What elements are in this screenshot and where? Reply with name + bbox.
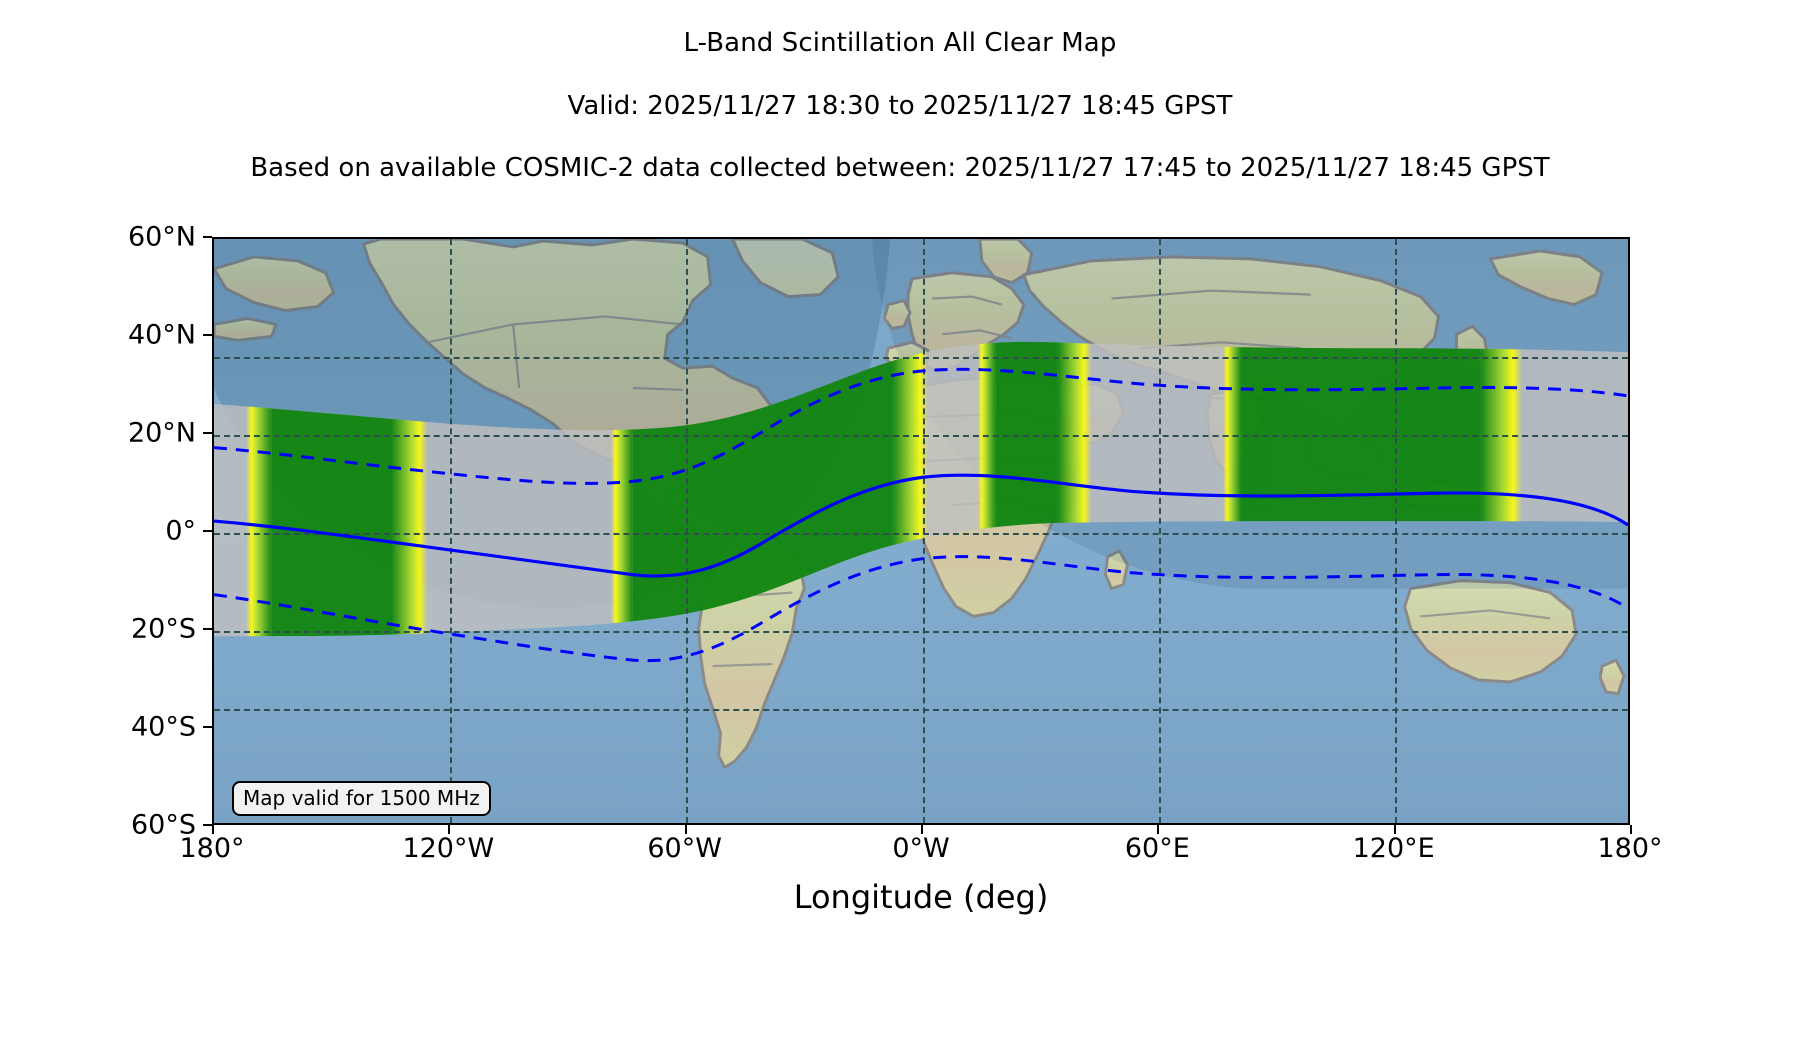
y-tick-mark [203,530,212,532]
y-tick-label: 20°N [0,418,196,449]
x-tick-label: 180° [1500,833,1760,864]
north-boundary-dashed [214,369,1628,483]
x-tick-mark [448,825,450,834]
y-tick-mark [203,726,212,728]
page-title: L-Band Scintillation All Clear Map [0,28,1800,58]
y-tick-mark [203,824,212,826]
y-tick-label: 60°N [0,222,196,253]
x-tick-mark [1394,825,1396,834]
y-tick-mark [203,334,212,336]
x-tick-label: 60°W [555,833,815,864]
y-tick-mark [203,432,212,434]
title-block: L-Band Scintillation All Clear Map Valid… [0,0,1800,183]
magnetic-equator-curves [214,239,1628,823]
data-source-subtitle: Based on available COSMIC-2 data collect… [0,153,1800,183]
x-tick-label: 0°W [791,833,1051,864]
x-tick-label: 120°W [318,833,578,864]
y-tick-label: 40°N [0,320,196,351]
magnetic-equator-solid [214,475,1628,576]
x-axis-label: Longitude (deg) [212,878,1630,916]
x-tick-label: 120°E [1264,833,1524,864]
x-tick-mark [685,825,687,834]
y-tick-label: 40°S [0,712,196,743]
y-tick-label: 20°S [0,614,196,645]
x-tick-mark [921,825,923,834]
x-tick-mark [1630,825,1632,834]
south-boundary-dashed [214,557,1628,661]
map-plot-area[interactable]: Probably Clear > 95% Probability Clear P… [212,237,1630,825]
y-tick-mark [203,628,212,630]
y-tick-label: 0° [0,516,196,547]
x-tick-label: 60°E [1027,833,1287,864]
valid-time-subtitle: Valid: 2025/11/27 18:30 to 2025/11/27 18… [0,91,1800,121]
frequency-annotation-box: Map valid for 1500 MHz [232,781,491,816]
y-tick-mark [203,236,212,238]
x-tick-mark [212,825,214,834]
x-tick-mark [1157,825,1159,834]
x-tick-label: 180° [82,833,342,864]
